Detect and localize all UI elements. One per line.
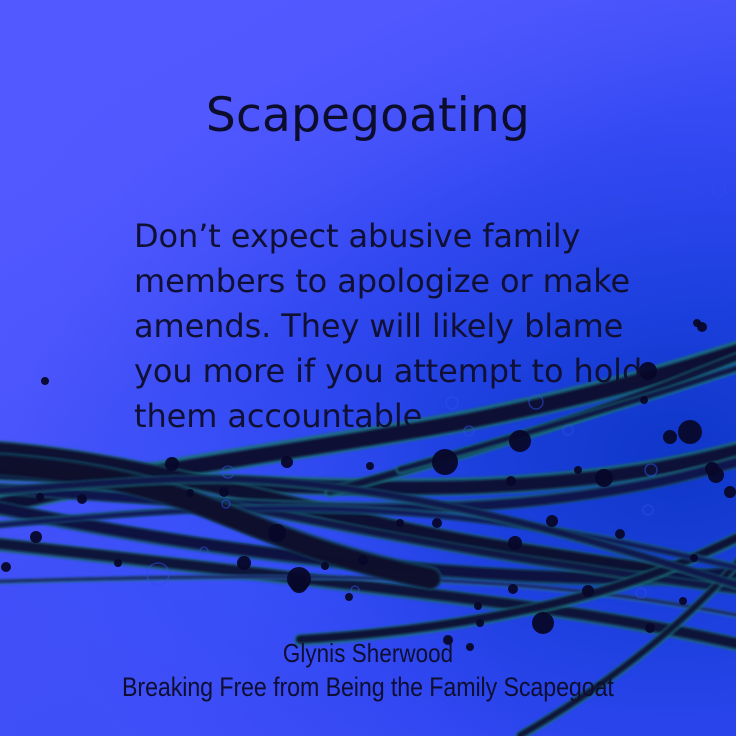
book-title: Breaking Free from Being the Family Scap… (0, 672, 736, 703)
quote-line: Don’t expect abusive family (134, 214, 634, 259)
quote-line: you more if you attempt to hold (134, 349, 634, 394)
book-title-text: Breaking Free from Being the Family Scap… (122, 672, 614, 703)
page-title: Scapegoating (0, 92, 736, 139)
quote-text: Don’t expect abusive family members to a… (134, 214, 634, 439)
text-layer: Scapegoating Don’t expect abusive family… (0, 0, 736, 736)
quote-line: members to apologize or make (134, 259, 634, 304)
quote-line: amends. They will likely blame (134, 304, 634, 349)
author-name: Glynis Sherwood (0, 638, 736, 668)
quote-card: Scapegoating Don’t expect abusive family… (0, 0, 736, 736)
author-name-text: Glynis Sherwood (283, 638, 453, 668)
quote-line: them accountable. (134, 394, 634, 439)
